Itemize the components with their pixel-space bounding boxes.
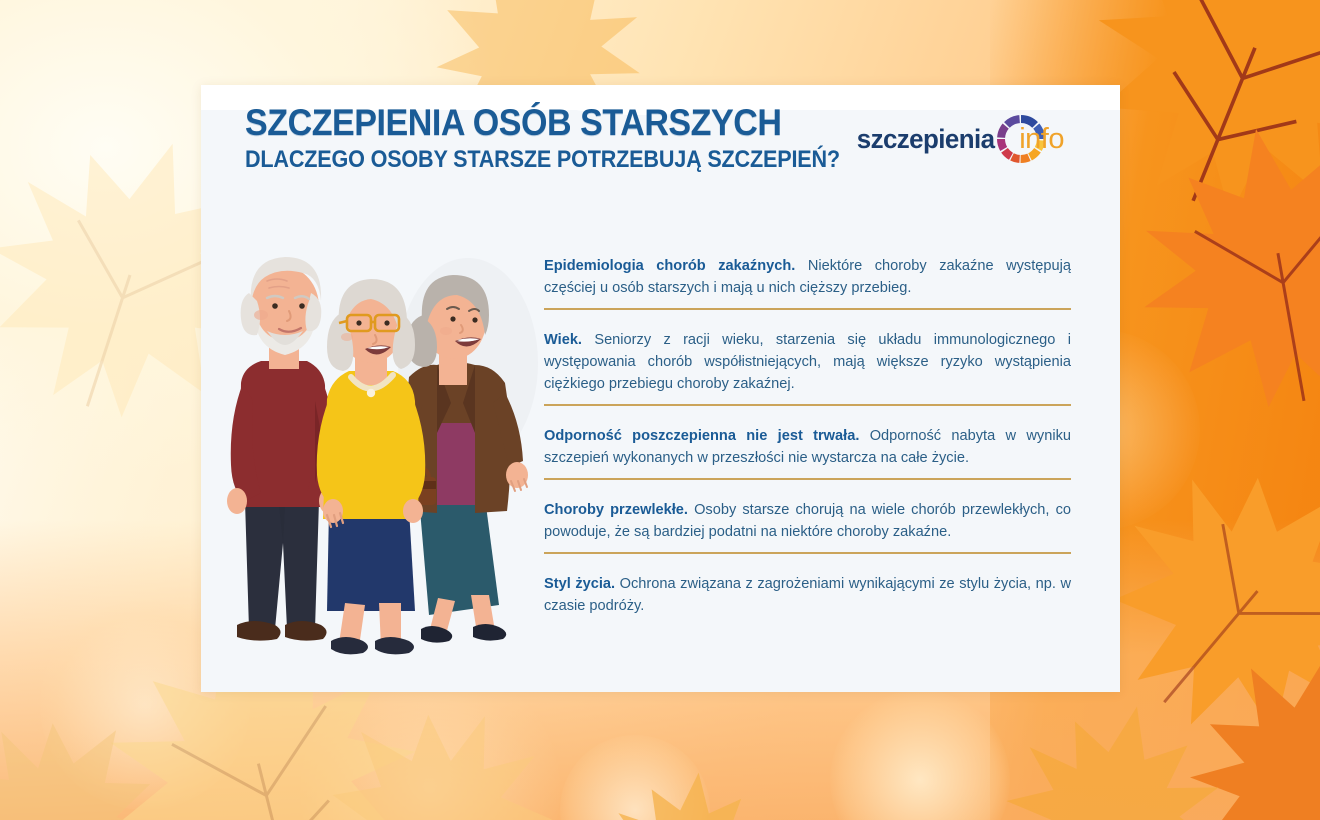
reason-paragraph: Wiek. Seniorzy z racji wieku, starzenia … <box>544 329 1071 395</box>
logo-info-text: info <box>1019 123 1064 156</box>
reason-block: Epidemiologia chorób zakaźnych. Niektóre… <box>544 255 1071 329</box>
section-divider <box>544 308 1071 310</box>
logo-wordmark: szczepienia <box>856 124 994 155</box>
reasons-list: Epidemiologia chorób zakaźnych. Niektóre… <box>544 255 1071 626</box>
reason-lead: Styl życia. <box>544 576 615 592</box>
reason-text: Seniorzy z racji wieku, starzenia się uk… <box>544 332 1071 392</box>
section-divider <box>544 552 1071 554</box>
reason-paragraph: Choroby przewlekłe. Osoby starsze choruj… <box>544 499 1071 543</box>
reason-block: Choroby przewlekłe. Osoby starsze choruj… <box>544 499 1071 573</box>
reason-paragraph: Styl życia. Ochrona związana z zagrożeni… <box>544 573 1071 617</box>
reason-paragraph: Odporność poszczepienna nie jest trwała.… <box>544 425 1071 469</box>
reason-text: Ochrona związana z zagrożeniami wynikają… <box>544 576 1071 614</box>
reason-lead: Epidemiologia chorób zakaźnych. <box>544 258 795 274</box>
reason-block: Wiek. Seniorzy z racji wieku, starzenia … <box>544 329 1071 425</box>
three-elderly-people-illustration <box>223 243 543 668</box>
reason-lead: Odporność poszczepienna nie jest trwała. <box>544 428 859 444</box>
reason-paragraph: Epidemiologia chorób zakaźnych. Niektóre… <box>544 255 1071 299</box>
card-body-row: Epidemiologia chorób zakaźnych. Niektóre… <box>201 203 1120 673</box>
section-divider <box>544 478 1071 480</box>
section-divider <box>544 404 1071 406</box>
reason-block: Odporność poszczepienna nie jest trwała.… <box>544 425 1071 499</box>
reason-block: Styl życia. Ochrona związana z zagrożeni… <box>544 573 1071 626</box>
reason-lead: Choroby przewlekłe. <box>544 502 688 518</box>
infographic-card: SZCZEPIENIA OSÓB STARSZYCH DLACZEGO OSOB… <box>201 85 1120 692</box>
szczepienia-info-logo[interactable]: szczepienia <box>851 111 1064 167</box>
figure-woman-glasses <box>317 279 426 654</box>
reason-lead: Wiek. <box>544 332 582 348</box>
